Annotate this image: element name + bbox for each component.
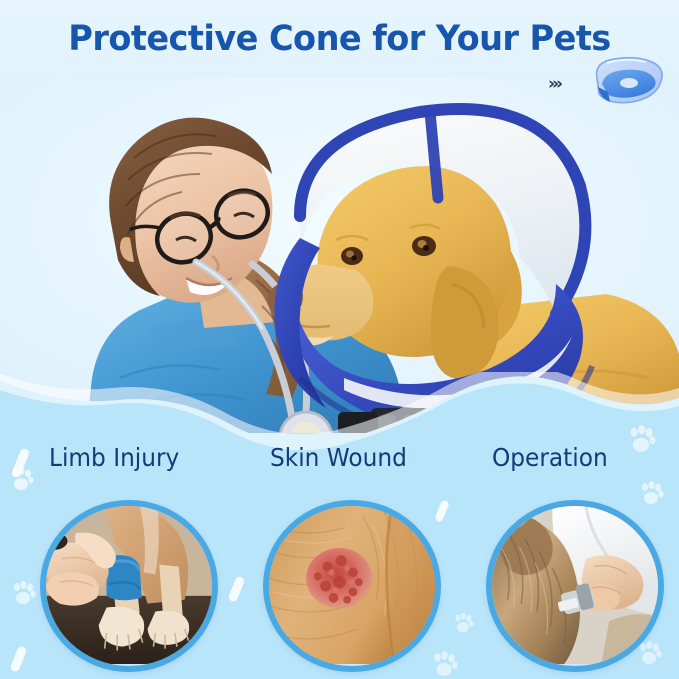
operation-photo xyxy=(486,500,664,672)
limb-injury-photo xyxy=(40,500,218,672)
title-bar: Protective Cone for Your Pets xyxy=(0,14,679,64)
category-labels: Limb Injury Skin Wound Operation xyxy=(0,443,679,479)
infographic-canvas: Protective Cone for Your Pets ››› xyxy=(0,0,679,679)
skin-wound-photo xyxy=(263,500,441,672)
limb-injury-illustration xyxy=(46,506,212,664)
skin-wound-illustration xyxy=(269,506,435,664)
protective-cone-icon xyxy=(588,54,666,110)
operation-illustration xyxy=(492,506,658,664)
category-label-operation: Operation xyxy=(492,443,608,472)
chevron-arrows-icon: ››› xyxy=(548,74,560,94)
paw-print-decoration xyxy=(452,612,474,634)
category-label-skin-wound: Skin Wound xyxy=(270,443,407,472)
category-label-limb-injury: Limb Injury xyxy=(49,443,179,472)
paw-print-decoration xyxy=(638,480,664,506)
paw-print-decoration xyxy=(10,580,36,606)
page-title: Protective Cone for Your Pets xyxy=(68,19,610,59)
